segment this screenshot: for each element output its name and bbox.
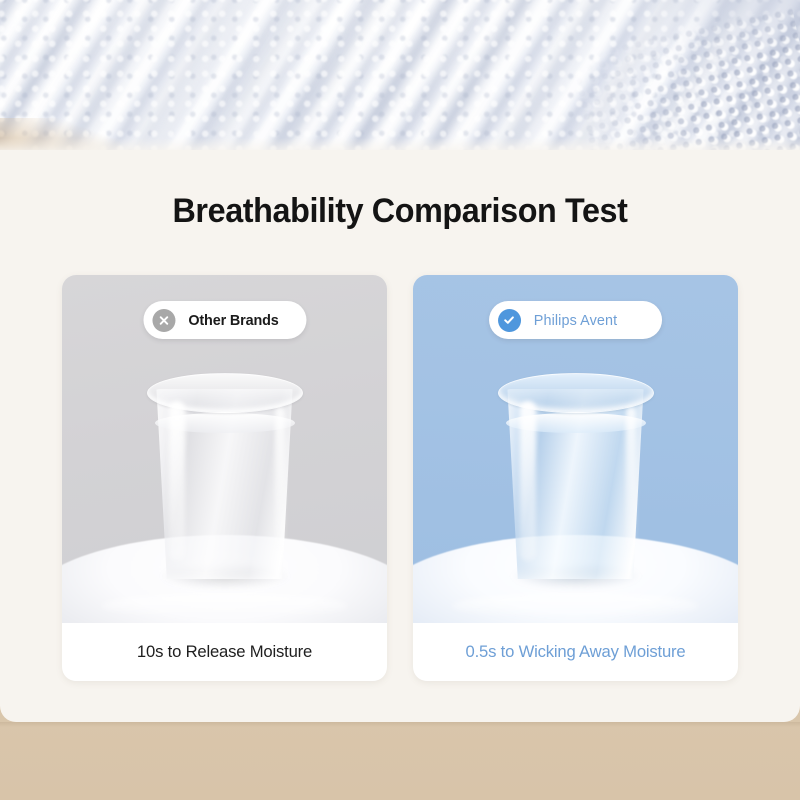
fabric-pad-sheen-left — [101, 593, 348, 619]
badge-other-brands: Other Brands — [143, 301, 306, 339]
check-circle-icon — [498, 309, 521, 332]
card-caption-philips-avent: 0.5s to Wicking Away Moisture — [416, 623, 735, 681]
product-comparison-page: Breathability Comparison Test Other Bran… — [0, 0, 800, 800]
x-circle-icon — [152, 309, 175, 332]
fabric-texture-banner-image — [0, 0, 800, 152]
comparison-card-philips-avent[interactable]: Philips Avent 0.5s to Wicking Away Moist… — [413, 275, 738, 681]
card-caption-other-brands: 10s to Release Moisture — [65, 623, 384, 681]
page-title: Breathability Comparison Test — [20, 192, 780, 231]
glass-highlight-left — [169, 401, 185, 561]
inverted-glass-left — [145, 367, 305, 579]
badge-label-philips-avent: Philips Avent — [533, 312, 616, 329]
card-photo-philips-avent: Philips Avent — [413, 275, 738, 623]
glass-highlight-secondary-right — [626, 407, 636, 553]
comparison-panel: Breathability Comparison Test Other Bran… — [0, 150, 800, 722]
glass-highlight-secondary-left — [275, 407, 285, 553]
comparison-cards-row: Other Brands 10s to Release Moisture — [62, 275, 738, 681]
comparison-card-other-brands[interactable]: Other Brands 10s to Release Moisture — [62, 275, 387, 681]
badge-philips-avent: Philips Avent — [489, 301, 663, 339]
panel-drop-shadow — [0, 722, 800, 727]
glass-highlight-right — [520, 401, 536, 561]
badge-label-other-brands: Other Brands — [188, 312, 278, 329]
inverted-glass-right — [496, 367, 656, 579]
fabric-pad-sheen-right — [452, 593, 699, 619]
card-photo-other-brands: Other Brands — [62, 275, 387, 623]
